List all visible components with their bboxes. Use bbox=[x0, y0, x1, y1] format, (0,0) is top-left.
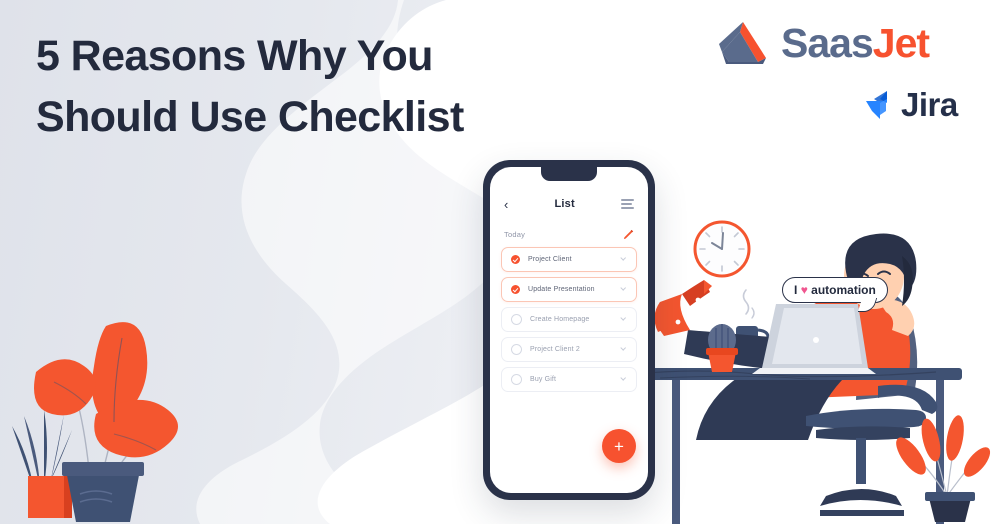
saasjet-word-jet: Jet bbox=[873, 20, 929, 66]
task-row[interactable]: Project Client bbox=[501, 247, 637, 272]
banner-canvas: 5 Reasons Why You Should Use Checklist S… bbox=[0, 0, 998, 524]
phone-mockup: ‹ List Today Project Client bbox=[483, 160, 655, 500]
checkbox-unchecked-icon[interactable] bbox=[511, 314, 522, 325]
app-title: List bbox=[554, 198, 574, 210]
headline-line-2: Should Use Checklist bbox=[36, 87, 556, 148]
pencil-icon[interactable] bbox=[623, 229, 634, 240]
chevron-down-icon[interactable] bbox=[621, 347, 627, 353]
left-plants-illustration bbox=[10, 310, 210, 524]
task-label: Buy Gift bbox=[530, 376, 613, 383]
task-label: Update Presentation bbox=[528, 286, 613, 293]
phone-screen: ‹ List Today Project Client bbox=[490, 167, 648, 493]
task-row[interactable]: Update Presentation bbox=[501, 277, 637, 302]
saasjet-prism-icon bbox=[716, 18, 772, 68]
task-row[interactable]: Create Homepage bbox=[501, 307, 637, 332]
checkbox-unchecked-icon[interactable] bbox=[511, 374, 522, 385]
speech-text: automation bbox=[811, 283, 876, 297]
heart-icon: ♥ bbox=[801, 283, 808, 297]
speech-prefix: I bbox=[794, 283, 797, 297]
task-label: Create Homepage bbox=[530, 316, 613, 323]
task-row[interactable]: Buy Gift bbox=[501, 367, 637, 392]
phone-notch bbox=[541, 167, 597, 181]
right-plant-illustration bbox=[895, 400, 998, 524]
chevron-down-icon[interactable] bbox=[621, 317, 627, 323]
task-label: Project Client bbox=[528, 256, 613, 263]
back-icon[interactable]: ‹ bbox=[504, 198, 508, 211]
checkbox-checked-icon[interactable] bbox=[511, 285, 520, 294]
saasjet-wordmark: SaasJet bbox=[781, 23, 929, 64]
chevron-down-icon[interactable] bbox=[621, 257, 627, 263]
page-title: 5 Reasons Why You Should Use Checklist bbox=[36, 26, 556, 148]
saasjet-word-saas: Saas bbox=[781, 20, 873, 66]
add-task-button[interactable]: + bbox=[602, 429, 636, 463]
section-label: Today bbox=[504, 230, 525, 239]
task-list: Project Client Update Presentation Creat… bbox=[501, 247, 637, 392]
jira-logo[interactable]: Jira bbox=[862, 88, 958, 121]
task-row[interactable]: Project Client 2 bbox=[501, 337, 637, 362]
task-label: Project Client 2 bbox=[530, 346, 613, 353]
chevron-down-icon[interactable] bbox=[621, 287, 627, 293]
jira-arrow-icon bbox=[862, 89, 894, 121]
checkbox-checked-icon[interactable] bbox=[511, 255, 520, 264]
jira-wordmark: Jira bbox=[901, 88, 958, 121]
app-header: ‹ List bbox=[490, 193, 648, 215]
headline-line-1: 5 Reasons Why You bbox=[36, 32, 433, 80]
speech-bubble: I ♥ automation bbox=[782, 277, 888, 303]
chevron-down-icon[interactable] bbox=[621, 377, 627, 383]
wall-clock-icon bbox=[692, 219, 752, 279]
section-header: Today bbox=[504, 229, 634, 240]
saasjet-logo[interactable]: SaasJet bbox=[716, 18, 929, 68]
checkbox-unchecked-icon[interactable] bbox=[511, 344, 522, 355]
hamburger-icon[interactable] bbox=[621, 199, 634, 208]
